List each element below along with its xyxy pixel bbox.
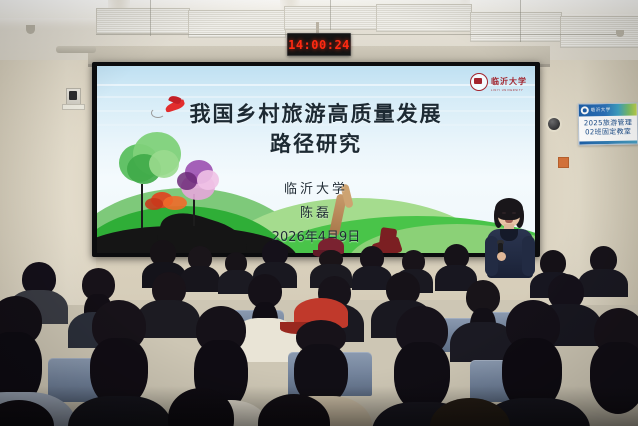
ceiling-tile [376, 4, 472, 32]
sign-header-banner: 临沂大学 [579, 103, 637, 116]
slide-bush [145, 198, 163, 210]
sign-footer-bar [579, 140, 637, 144]
slide-title-line-1: 我国乡村旅游高质量发展 [97, 98, 535, 128]
university-crest-icon [470, 73, 488, 91]
classroom-sign: 临沂大学 2025旅游管理 02班固定教室 [578, 102, 638, 145]
sign-university-name: 临沂大学 [591, 107, 611, 113]
wall-sticker-icon [558, 157, 569, 168]
slide-affiliation: 临沂大学 [231, 178, 401, 197]
ceiling-grid-line [520, 0, 521, 42]
slide-tree-trunk [141, 184, 143, 228]
logo-chinese-name: 临沂大学 [491, 77, 527, 86]
slide-tree-foliage [197, 170, 219, 190]
audience-shoulders [578, 269, 628, 297]
presenter-hand [497, 252, 506, 261]
sign-line-2: 02班固定教室 [581, 128, 635, 138]
slide-bush [163, 196, 187, 210]
ceiling-grid-line [96, 34, 616, 35]
slide-presenter-name: 陈磊 [231, 202, 401, 221]
ceiling-speaker [26, 25, 35, 34]
ceiling-grid-line [150, 0, 151, 36]
clock-time-display: 14:00:24 [288, 38, 350, 52]
dome-camera-icon [548, 118, 560, 130]
ceiling-tile [470, 12, 562, 42]
logo-english-name: LINYI UNIVERSITY [491, 89, 527, 92]
foreground-shadow [0, 386, 638, 426]
presenter-eye [502, 212, 506, 214]
audience-shoulders [180, 266, 220, 292]
sign-body: 2025旅游管理 02班固定教室 [579, 115, 637, 137]
air-vent-icon [56, 46, 96, 53]
university-logo-icon [581, 106, 589, 114]
slide-tree-foliage [177, 172, 197, 190]
wall-camera-bracket [62, 104, 85, 110]
slide-date: 2026年4月9日 [231, 226, 401, 245]
lecture-hall-photo: 14:00:24 临沂大学 2025旅游管理 02班固定教室 [0, 0, 638, 426]
presentation-slide: 临沂大学 LINYI UNIVERSITY 我国乡村旅游高质量发展 路径研究 临… [97, 66, 535, 253]
ceiling-speaker [616, 30, 624, 37]
digital-clock: 14:00:24 [287, 33, 351, 56]
presenter-arm [522, 236, 535, 276]
presenter [484, 198, 536, 278]
ceiling-light-panel [0, 0, 108, 18]
projection-screen: 临沂大学 LINYI UNIVERSITY 我国乡村旅游高质量发展 路径研究 临… [92, 62, 540, 257]
presenter-eye [512, 212, 516, 214]
logo-text-block: 临沂大学 LINYI UNIVERSITY [491, 71, 527, 92]
slide-title-line-2: 路径研究 [97, 128, 535, 158]
ceiling-tile [284, 6, 378, 30]
slide-university-logo: 临沂大学 LINYI UNIVERSITY [470, 71, 527, 92]
ceiling-tile [560, 16, 638, 48]
ceiling-tile [96, 8, 190, 34]
ceiling-grid-line [330, 0, 331, 30]
presenter-hair [495, 198, 523, 220]
